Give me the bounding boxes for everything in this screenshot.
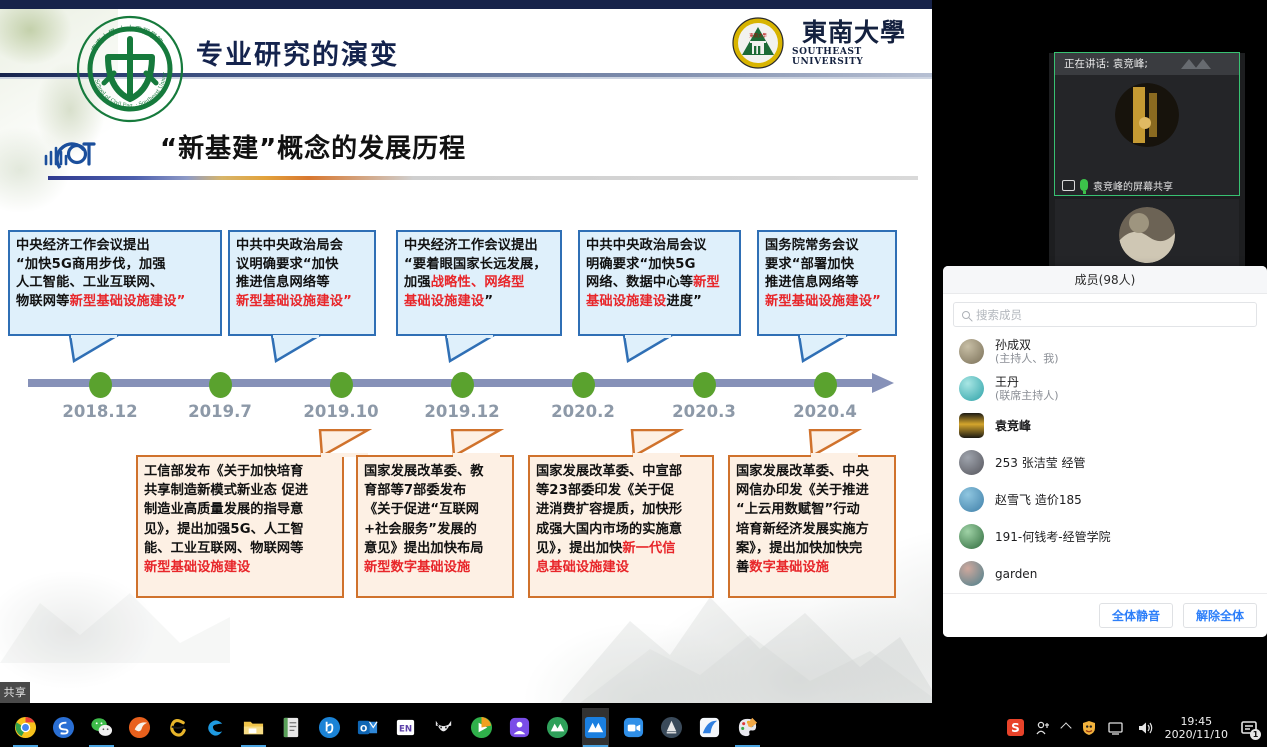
taskbar-system-tray: S 19:45 [1007, 708, 1259, 747]
slide-header: 東南大學 土木工程學院 School of Civil Eng. · South… [0, 9, 932, 91]
body-text: 议明确要求“加快 [236, 257, 339, 272]
seu-wordmark: 東南大學 SOUTHEAST UNIVERSITY [792, 20, 916, 67]
seu-civil-engineering-logo: 東南大學 土木工程學院 School of Civil Eng. · South… [74, 13, 186, 125]
bottom-callout-line: 制造业高质量发展的指导意 [144, 500, 336, 519]
mute-all-button[interactable]: 全体静音 [1099, 603, 1173, 628]
notification-center-button[interactable]: 1 [1239, 718, 1259, 738]
highlight-text: 新型基础设施建设” [70, 294, 186, 309]
body-text: 培育新经济发展实施方 [736, 522, 869, 537]
timeline-bottom-callout: 工信部发布《关于加快培育共享制造新模式新业态 促进制造业高质量发展的指导意见》，… [136, 455, 344, 598]
body-text: 工信部发布《关于加快培育 [144, 464, 303, 479]
body-text: 中央经济工作会议提出 [404, 238, 538, 253]
timeline-tick-label: 2018.12 [62, 402, 137, 421]
body-text: 进消费扩容提质，加快形 [536, 502, 682, 517]
participants-search-wrap: 搜索成员 [943, 294, 1267, 331]
volume-icon[interactable] [1137, 720, 1154, 736]
video-tile-name: 袁竞峰的屏幕共享 [1093, 178, 1173, 193]
video-tile-footer: 袁竞峰的屏幕共享 [1055, 175, 1239, 195]
timeline-top-callouts: 中央经济工作会议提出“加快5G商用步伐，加强人工智能、工业互联网、物联网等新型基… [0, 230, 932, 362]
highlight-text: 基础设施建设 [404, 294, 484, 309]
bottom-callout-line: 息基础设施建设 [536, 558, 706, 577]
taskbar-app-media-player[interactable] [468, 708, 495, 747]
page-title: 专业研究的演变 [196, 33, 399, 72]
body-text: 意见》提出加快布局 [364, 541, 484, 556]
timeline-bottom-callout: 国家发展改革委、中央网信办印发《关于推进“上云用数赋智”行动培育新经济发展实施方… [728, 455, 896, 598]
top-callout-line: “加快5G商用步伐，加强 [16, 256, 214, 275]
top-callout-line: 中共中央政治局会 [236, 237, 368, 256]
video-tile-secondary[interactable] [1055, 199, 1239, 273]
callout-tail [797, 335, 851, 363]
body-text: 制造业高质量发展的指导意 [144, 502, 303, 517]
participant-name: 191-何钱考-经管学院 [995, 530, 1111, 544]
bottom-callout-line: 培育新经济发展实施方 [736, 520, 888, 539]
timeline-arrow-head [872, 373, 894, 393]
top-callout-line: “要着眼国家长远发展， [404, 256, 554, 275]
body-text: 加强 [404, 275, 431, 290]
participant-names: garden [995, 567, 1037, 581]
timeline-top-callout: 中央经济工作会议提出“加快5G商用步伐，加强人工智能、工业互联网、物联网等新型基… [8, 230, 222, 336]
bottom-callout-line: 《关于促进“互联网 [364, 500, 506, 519]
top-callout-line: 中共中央政治局会议 [586, 237, 733, 256]
timeline-marker [209, 372, 232, 398]
body-text: 中共中央政治局会议 [586, 238, 707, 253]
highlight-text: 息基础设施建设 [536, 560, 629, 575]
top-callout-line: 中央经济工作会议提出 [404, 237, 554, 256]
highlight-text: 战略性、网络型 [431, 275, 525, 290]
taskbar-app-english-ime[interactable]: EN [392, 708, 419, 747]
participant-row[interactable]: 王丹(联席主持人) [943, 370, 1267, 407]
bottom-callout-line: 国家发展改革委、教 [364, 462, 506, 481]
highlight-text: 数字基础设施 [749, 560, 829, 575]
body-text: 国家发展改革委、教 [364, 464, 484, 479]
body-text: 中央经济工作会议提出 [16, 238, 150, 253]
body-text: “上云用数赋智”行动 [736, 502, 860, 517]
participant-names: 袁竞峰 [995, 419, 1031, 433]
avatar [959, 376, 984, 401]
southeast-university-logo: 東南大學 東南大學 SOUTHEAST UNIVERSITY [732, 15, 916, 71]
body-text: 推进信息网络等 [236, 275, 330, 290]
avatar [959, 339, 984, 364]
body-text: 共享制造新模式新业态 促进 [144, 483, 308, 498]
clock-date: 2020/11/10 [1165, 728, 1228, 741]
section-title: “新基建”概念的发展历程 [160, 128, 466, 165]
bottom-callout-line: 意见》提出加快布局 [364, 539, 506, 558]
participant-name: 孙成双 [995, 338, 1059, 352]
taskbar-app-foxmail[interactable] [430, 708, 457, 747]
timeline-bottom-callouts: 工信部发布《关于加快培育共享制造新模式新业态 促进制造业高质量发展的指导意见》，… [0, 430, 932, 600]
timeline-marker [693, 372, 716, 398]
slide-top-strip [0, 0, 932, 9]
search-input[interactable]: 搜索成员 [953, 302, 1257, 327]
windows-taskbar: OEN S [0, 708, 1267, 747]
participant-row[interactable]: 孙成双(主持人、我) [943, 333, 1267, 370]
taskbar-app-paint-3d[interactable] [734, 708, 761, 747]
participant-row[interactable]: 253 张洁莹 经管 [943, 444, 1267, 481]
body-text: “要着眼国家长远发展， [404, 257, 547, 272]
bottom-callout-line: 见》，提出加强5G、人工智 [144, 520, 336, 539]
timeline-bottom-callout: 国家发展改革委、教育部等7部委发布《关于促进“互联网+社会服务”发展的意见》提出… [356, 455, 514, 598]
body-text: 《关于促进“互联网 [364, 502, 479, 517]
notification-badge: 1 [1250, 729, 1261, 740]
timeline-marker [330, 372, 353, 398]
body-text: 物联网等 [16, 294, 70, 309]
video-tile-active[interactable]: 正在讲话: 袁竞峰; 袁竞峰的屏幕共享 [1055, 53, 1239, 195]
slide-section-heading: “新基建”概念的发展历程 [38, 128, 898, 184]
participant-names: 王丹(联席主持人) [995, 375, 1059, 403]
bottom-callout-line: 能、工业互联网、物联网等 [144, 539, 336, 558]
top-callout-line: 国务院常务会议 [765, 237, 889, 256]
timeline-tick-label: 2020.3 [672, 402, 736, 421]
bottom-callout-line: 进消费扩容提质，加快形 [536, 500, 706, 519]
bottom-callout-line: 共享制造新模式新业态 促进 [144, 481, 336, 500]
timeline-tick-label: 2019.7 [188, 402, 252, 421]
timeline-marker [451, 372, 474, 398]
avatar [959, 413, 984, 438]
body-text: 国家发展改革委、中宣部 [536, 464, 682, 479]
meeting-watermark-icon [1177, 57, 1225, 71]
bottom-callout-line: 见》，提出加快新一代信 [536, 539, 706, 558]
speaking-now-label: 正在讲话: 袁竞峰; [1064, 53, 1148, 75]
avatar [959, 450, 984, 475]
taskbar-app-outlook[interactable]: O [354, 708, 381, 747]
search-icon [962, 311, 970, 319]
timeline-top-callout: 国务院常务会议要求“部署加快推进信息网络等新型基础设施建设” [757, 230, 897, 336]
svg-text:東南大學: 東南大學 [749, 32, 767, 39]
top-callout-line: 新型基础设施建设” [765, 293, 889, 312]
callout-tail [628, 429, 684, 457]
bottom-callout-line: 工信部发布《关于加快培育 [144, 462, 336, 481]
clock-time: 19:45 [1180, 715, 1212, 728]
top-callout-line: 中央经济工作会议提出 [16, 237, 214, 256]
iot-logo-icon [40, 134, 96, 176]
top-callout-line: 推进信息网络等 [765, 274, 889, 293]
seu-seal-icon: 東南大學 [732, 17, 784, 69]
taskbar-app-bird-app[interactable] [696, 708, 723, 747]
body-text: 网络、数据中心等 [586, 275, 693, 290]
taskbar-app-tencent-meeting[interactable] [582, 708, 609, 747]
highlight-text: 新型基础设施建设 [144, 560, 250, 575]
body-text: 人工智能、工业互联网、 [16, 275, 163, 290]
body-text: 等23部委印发《关于促 [536, 483, 674, 498]
seu-name-en: SOUTHEAST UNIVERSITY [792, 47, 916, 67]
svg-text:EN: EN [399, 724, 412, 734]
body-text: 成强大国内市场的实施意 [536, 522, 682, 537]
body-text: ” [484, 294, 493, 309]
participants-footer: 全体静音 解除全体 [943, 593, 1267, 637]
body-text: 中共中央政治局会 [236, 238, 343, 253]
body-text: 明确要求“加快5G [586, 257, 696, 272]
callout-tail [68, 335, 122, 363]
top-callout-line: 要求“部署加快 [765, 256, 889, 275]
sogou-ime-icon[interactable]: S [1007, 719, 1024, 736]
body-text: 育部等7部委发布 [364, 483, 466, 498]
participant-role: (主持人、我) [995, 352, 1059, 366]
video-thumbnail-strip: 正在讲话: 袁竞峰; 袁竞峰的屏幕共享 [1049, 53, 1245, 275]
participant-row[interactable]: garden [943, 555, 1267, 592]
timeline-axis-group: 2018.122019.72019.102019.122020.22020.32… [0, 370, 932, 418]
timeline-marker [89, 372, 112, 398]
timeline-tick-label: 2019.12 [424, 402, 499, 421]
timeline-tick-label: 2020.4 [793, 402, 857, 421]
participant-name: 袁竞峰 [995, 419, 1031, 433]
taskbar-app-maxthon[interactable] [544, 708, 571, 747]
taskbar-app-firefox-variant[interactable] [126, 708, 153, 747]
participant-names: 253 张洁莹 经管 [995, 456, 1086, 470]
taskbar-app-sogou-browser[interactable] [50, 708, 77, 747]
shared-screen-slide: 東南大學 土木工程學院 School of Civil Eng. · South… [0, 0, 932, 703]
screen-share-icon [1062, 180, 1075, 191]
timeline-bottom-callout: 国家发展改革委、中宣部等23部委印发《关于促进消费扩容提质，加快形成强大国内市场… [528, 455, 714, 598]
participant-row[interactable]: 赵雪飞 造价185 [943, 481, 1267, 518]
avatar [959, 524, 984, 549]
bottom-callout-line: 等23部委印发《关于促 [536, 481, 706, 500]
timeline-tick-label: 2019.10 [303, 402, 378, 421]
people-share-icon[interactable] [1035, 720, 1051, 736]
highlight-text: 新型基础设施建设” [765, 294, 881, 309]
screen-share-indicator: 共享 [0, 682, 30, 703]
body-text: 国家发展改革委、中央 [736, 464, 869, 479]
bottom-callout-line: 成强大国内市场的实施意 [536, 520, 706, 539]
body-text: 能、工业互联网、物联网等 [144, 541, 303, 556]
avatar [959, 487, 984, 512]
top-callout-line: 新型基础设施建设” [236, 293, 368, 312]
taskbar-app-notes[interactable] [278, 708, 305, 747]
bottom-callout-line: 新型数字基础设施 [364, 558, 506, 577]
body-text: 案》，提出加快加快完 [736, 541, 862, 556]
callout-tail [448, 429, 504, 457]
top-callout-line: 议明确要求“加快 [236, 256, 368, 275]
network-icon[interactable] [1108, 720, 1126, 736]
taskbar-app-kugou[interactable] [316, 708, 343, 747]
taskbar-app-chrome[interactable] [12, 708, 39, 747]
bottom-callout-line: 育部等7部委发布 [364, 481, 506, 500]
highlight-text: 基础设施建设 [586, 294, 666, 309]
participant-names: 191-何钱考-经管学院 [995, 530, 1111, 544]
top-callout-line: 物联网等新型基础设施建设” [16, 293, 214, 312]
taskbar-app-edge-legacy[interactable] [202, 708, 229, 747]
participant-row[interactable]: 袁竞峰 [943, 407, 1267, 444]
highlight-text: 新一代信 [622, 541, 675, 556]
participant-name: garden [995, 567, 1037, 581]
top-callout-line: 网络、数据中心等新型 [586, 274, 733, 293]
bottom-callout-line: +社会服务”发展的 [364, 520, 506, 539]
callout-tail [806, 429, 862, 457]
bottom-callout-line: 网信办印发《关于推进 [736, 481, 888, 500]
callout-tail [316, 429, 372, 457]
participant-names: 赵雪飞 造价185 [995, 493, 1082, 507]
bottom-callout-line: 案》，提出加快加快完 [736, 539, 888, 558]
participants-list[interactable]: 孙成双(主持人、我)王丹(联席主持人)袁竞峰253 张洁莹 经管赵雪飞 造价18… [943, 331, 1267, 593]
svg-text:O: O [360, 724, 367, 734]
top-callout-line: 明确要求“加快5G [586, 256, 733, 275]
body-text: 见》，提出加快 [536, 541, 622, 556]
participants-panel-title: 成员(98人) [943, 266, 1267, 294]
top-callout-line: 基础设施建设进度” [586, 293, 733, 312]
avatar [959, 561, 984, 586]
taskbar-app-wechat[interactable] [88, 708, 115, 747]
participants-panel: 成员(98人) 搜索成员 孙成双(主持人、我)王丹(联席主持人)袁竞峰253 张… [943, 266, 1267, 637]
bottom-callout-line: 国家发展改革委、中央 [736, 462, 888, 481]
timeline-tick-label: 2020.2 [551, 402, 615, 421]
highlight-text: 新型 [693, 275, 720, 290]
bottom-callout-line: 新型基础设施建设 [144, 558, 336, 577]
speaking-now-banner: 正在讲话: 袁竞峰; [1055, 53, 1239, 75]
clock[interactable]: 19:45 2020/11/10 [1165, 715, 1228, 741]
bottom-callout-line: “上云用数赋智”行动 [736, 500, 888, 519]
body-text: 善 [736, 560, 749, 575]
participant-name: 王丹 [995, 375, 1059, 389]
body-text: 网信办印发《关于推进 [736, 483, 869, 498]
callout-tail [622, 335, 676, 363]
body-text: 进度” [666, 294, 702, 309]
unmute-all-button[interactable]: 解除全体 [1183, 603, 1257, 628]
participant-role: (联席主持人) [995, 389, 1059, 403]
taskbar-app-cone-app[interactable] [658, 708, 685, 747]
taskbar-app-list: OEN [12, 708, 761, 747]
body-text: 见》，提出加强5G、人工智 [144, 522, 304, 537]
body-text: “加快5G商用步伐，加强 [16, 257, 166, 272]
timeline-top-callout: 中共中央政治局会议明确要求“加快5G网络、数据中心等新型基础设施建设进度” [578, 230, 741, 336]
timeline-top-callout: 中央经济工作会议提出“要着眼国家长远发展，加强战略性、网络型基础设施建设” [396, 230, 562, 336]
highlight-text: 新型数字基础设施 [364, 560, 470, 575]
callout-tail [270, 335, 324, 363]
top-callout-line: 加强战略性、网络型 [404, 274, 554, 293]
callout-tail [444, 335, 498, 363]
taskbar-app-quark[interactable] [506, 708, 533, 747]
avatar-secondary [1119, 207, 1175, 263]
antivirus-shield-icon[interactable] [1081, 720, 1097, 736]
body-text: +社会服务”发展的 [364, 522, 477, 537]
avatar [1115, 83, 1179, 147]
search-placeholder: 搜索成员 [976, 307, 1022, 323]
participant-names: 孙成双(主持人、我) [995, 338, 1059, 366]
section-underline [48, 176, 918, 180]
seu-name-cn: 東南大學 [802, 20, 906, 45]
participant-name: 253 张洁莹 经管 [995, 456, 1086, 470]
svg-text:S: S [1011, 721, 1020, 735]
bottom-callout-line: 国家发展改革委、中宣部 [536, 462, 706, 481]
participant-row[interactable]: 191-何钱考-经管学院 [943, 518, 1267, 555]
microphone-icon [1080, 179, 1088, 191]
show-hidden-icons-chevron-up-icon[interactable] [1060, 722, 1071, 733]
timeline-marker [814, 372, 837, 398]
highlight-text: 新型基础设施建设” [236, 294, 352, 309]
top-callout-line: 基础设施建设” [404, 293, 554, 312]
body-text: 推进信息网络等 [765, 275, 859, 290]
bottom-callout-line: 善数字基础设施 [736, 558, 888, 577]
top-callout-line: 推进信息网络等 [236, 274, 368, 293]
timeline-top-callout: 中共中央政治局会议明确要求“加快推进信息网络等新型基础设施建设” [228, 230, 376, 336]
top-callout-line: 人工智能、工业互联网、 [16, 274, 214, 293]
taskbar-app-internet-explorer[interactable] [164, 708, 191, 747]
body-text: 国务院常务会议 [765, 238, 859, 253]
taskbar-app-file-explorer[interactable] [240, 708, 267, 747]
taskbar-app-video-app[interactable] [620, 708, 647, 747]
participant-name: 赵雪飞 造价185 [995, 493, 1082, 507]
timeline-marker [572, 372, 595, 398]
body-text: 要求“部署加快 [765, 257, 854, 272]
